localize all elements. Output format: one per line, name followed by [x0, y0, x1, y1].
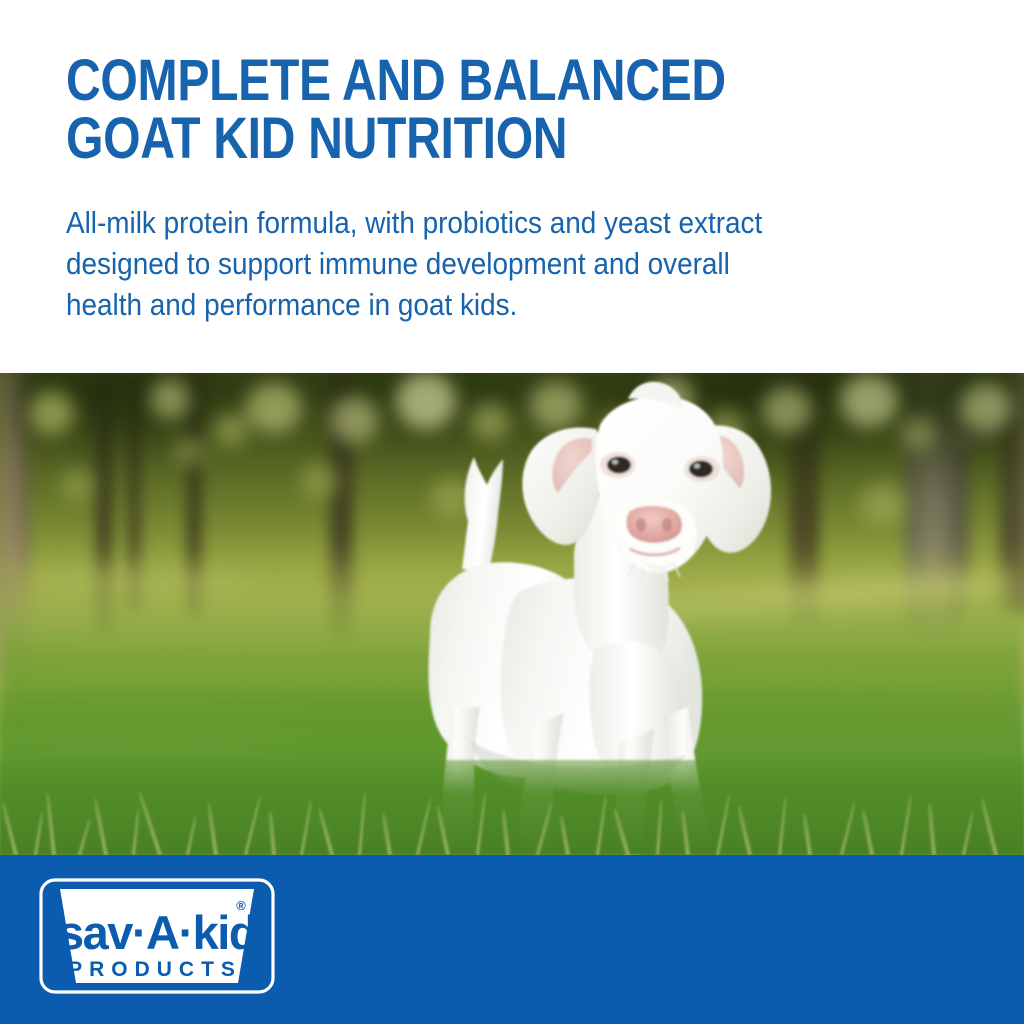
goat-nostril-left — [636, 518, 646, 532]
goat-nostril-right — [662, 518, 672, 532]
logo-tagline: PRODUCTS — [68, 958, 242, 981]
page-title: COMPLETE AND BALANCED GOAT KID NUTRITION — [66, 52, 811, 168]
subcopy-line-2: designed to support immune development a… — [66, 243, 874, 284]
subcopy: All-milk protein formula, with probiotic… — [66, 168, 874, 325]
sav-a-kid-logo[interactable]: sav·A·kid ® PRODUCTS — [38, 877, 276, 995]
photo-scene — [0, 373, 1024, 855]
goat-eye-right-glint — [694, 464, 700, 469]
goat-nose — [626, 506, 682, 543]
headline-line-2: GOAT KID NUTRITION — [66, 110, 811, 168]
goat-eye-left-glint — [612, 460, 618, 465]
goat-eye-left — [607, 457, 631, 474]
subcopy-line-1: All-milk protein formula, with probiotic… — [66, 202, 874, 243]
goat-eye-right — [689, 461, 713, 478]
hero-photo — [0, 373, 1024, 855]
goat-head-group — [522, 382, 771, 583]
subcopy-line-3: health and performance in goat kids. — [66, 284, 874, 325]
logo-registered-icon: ® — [236, 898, 246, 913]
logo-wordmark: sav·A·kid — [58, 906, 256, 959]
goat-tail — [462, 457, 503, 573]
header-text-block: COMPLETE AND BALANCED GOAT KID NUTRITION… — [0, 0, 1024, 373]
grass-foreground — [0, 760, 1024, 855]
footer-bar: sav·A·kid ® PRODUCTS — [0, 855, 1024, 1024]
headline-line-1: COMPLETE AND BALANCED — [66, 52, 811, 110]
promo-graphic: COMPLETE AND BALANCED GOAT KID NUTRITION… — [0, 0, 1024, 1024]
